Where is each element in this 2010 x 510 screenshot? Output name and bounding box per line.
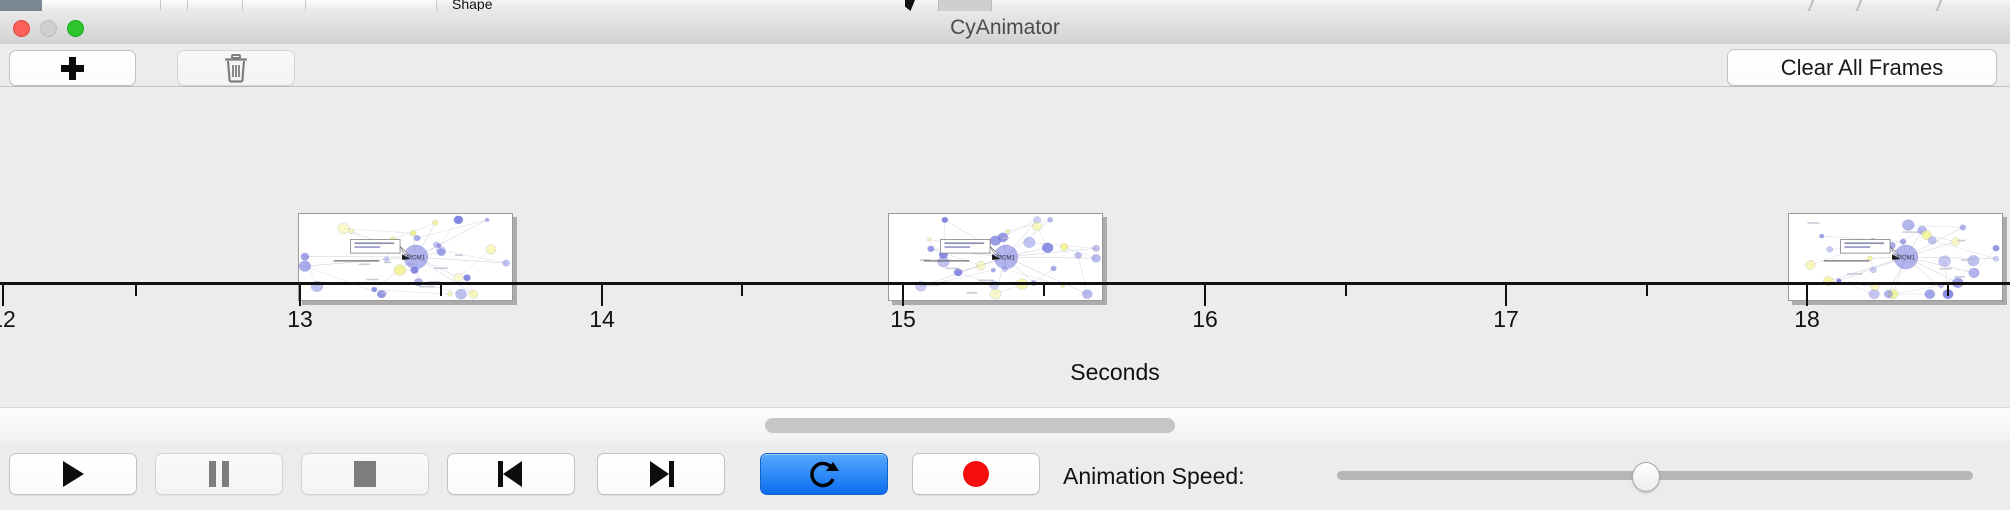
stop-button[interactable] — [301, 453, 429, 495]
frames-area: MCM1MCM1MCM1 — [0, 87, 2010, 282]
ruler-tick-label: 15 — [890, 306, 916, 333]
maximize-button[interactable] — [67, 20, 84, 37]
timeline-panel[interactable]: MCM1MCM1MCM1 12131415161718 Seconds — [0, 87, 2010, 407]
title-bar[interactable]: CyAnimator — [0, 11, 2010, 45]
pause-button[interactable] — [155, 453, 283, 495]
stop-icon — [354, 461, 376, 487]
ruler-tick — [1204, 285, 1206, 306]
ruler-tick — [601, 285, 603, 306]
loop-icon — [809, 458, 839, 490]
horizontal-scrollbar-thumb[interactable] — [765, 418, 1175, 433]
ruler-tick — [440, 285, 442, 296]
background-cell — [938, 0, 992, 11]
animation-speed-label: Animation Speed: — [1063, 463, 1245, 490]
background-cell — [161, 0, 188, 11]
ruler-tick — [1646, 285, 1648, 296]
page-title: CyAnimator — [0, 11, 2010, 44]
add-frame-button[interactable] — [9, 50, 136, 86]
plus-icon — [61, 57, 84, 80]
skip-to-end-button[interactable] — [597, 453, 725, 495]
ruler-tick — [1806, 285, 1808, 306]
ruler-tick — [741, 285, 743, 296]
horizontal-scrollbar-track[interactable] — [0, 407, 2010, 442]
background-cell — [243, 0, 306, 11]
ruler-tick-label: 17 — [1493, 306, 1519, 333]
cyanimator-window: Shape CyAnimator Clea — [0, 0, 2010, 510]
record-icon — [963, 461, 989, 487]
ruler-baseline — [0, 282, 2010, 285]
record-button[interactable] — [912, 453, 1040, 495]
close-button[interactable] — [13, 20, 30, 37]
background-divider — [1936, 0, 1956, 11]
ruler-tick-label: 18 — [1794, 306, 1820, 333]
skip-to-start-button[interactable] — [447, 453, 575, 495]
trash-icon — [223, 53, 249, 83]
background-cell — [306, 0, 437, 11]
pause-icon — [209, 461, 229, 487]
background-window-strip: Shape — [0, 0, 2010, 11]
background-divider — [1808, 0, 1828, 11]
play-icon — [63, 461, 84, 487]
playback-controls: Animation Speed: — [0, 441, 2010, 510]
ruler-tick — [135, 285, 137, 296]
ruler-tick — [1345, 285, 1347, 296]
skip-forward-icon — [648, 461, 674, 487]
animation-speed-slider-knob[interactable] — [1632, 462, 1660, 492]
ruler-tick — [1947, 285, 1949, 296]
play-button[interactable] — [9, 453, 137, 495]
ruler-tick-label: 16 — [1192, 306, 1218, 333]
ruler-tick-label: 12 — [0, 306, 16, 333]
toolbar: Clear All Frames — [0, 44, 2010, 87]
delete-frame-button[interactable] — [177, 50, 295, 86]
background-cursor-glyph — [905, 0, 915, 11]
background-divider — [1856, 0, 1876, 11]
ruler-tick-label: 14 — [589, 306, 615, 333]
axis-title-text: Seconds — [1070, 359, 1160, 385]
window-traffic-lights — [13, 20, 84, 37]
background-cell — [42, 0, 161, 11]
ruler-tick — [2, 285, 4, 306]
background-cell — [188, 0, 243, 11]
timeline-ruler: 12131415161718 — [0, 282, 2010, 352]
ruler-tick — [902, 285, 904, 306]
ruler-tick — [299, 285, 301, 306]
clear-all-frames-button[interactable]: Clear All Frames — [1727, 49, 1997, 86]
ruler-tick — [1043, 285, 1045, 296]
background-window-dark-cell — [0, 0, 42, 11]
axis-title: Seconds — [0, 359, 2010, 386]
background-window-label: Shape — [452, 0, 492, 11]
ruler-tick-label: 13 — [287, 306, 313, 333]
skip-backward-icon — [498, 461, 524, 487]
ruler-tick — [1505, 285, 1507, 306]
loop-button[interactable] — [760, 453, 888, 495]
minimize-button[interactable] — [40, 20, 57, 37]
